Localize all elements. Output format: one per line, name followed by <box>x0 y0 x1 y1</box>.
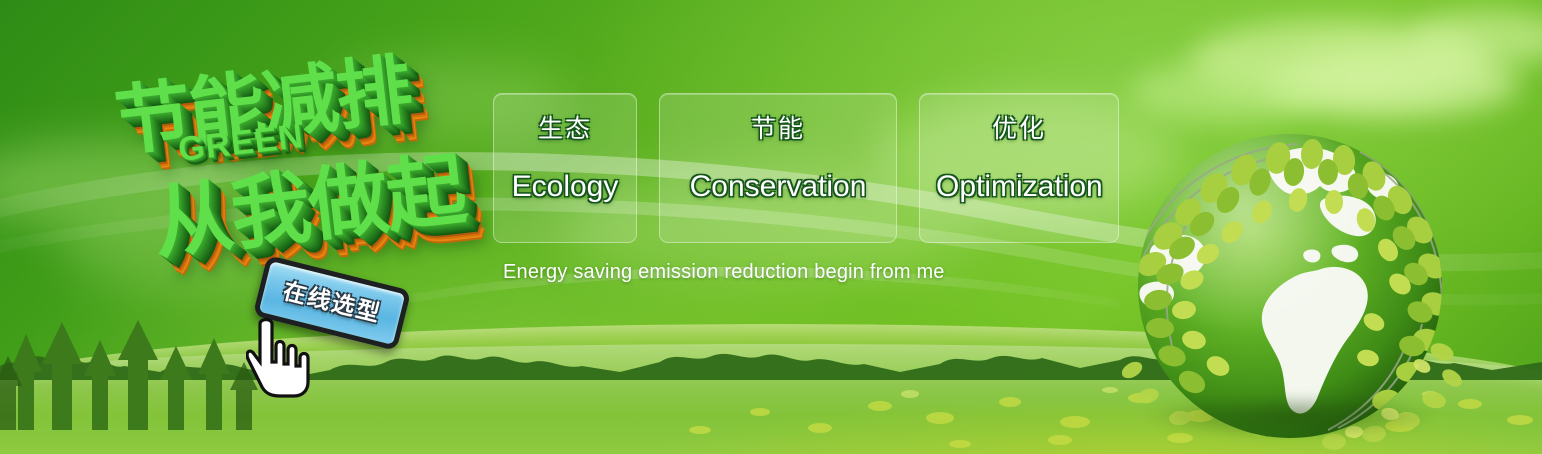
title-line-cn-1: 节能减排 <box>109 28 416 171</box>
cloud-shape <box>0 140 260 230</box>
feature-card-cn-label: 生态 <box>510 116 620 141</box>
feature-card-en-label: Ecology <box>510 172 620 202</box>
feature-card-en-label: Optimization <box>936 172 1102 202</box>
hero-3d-title: 节能减排 GREEN 从我做起 <box>100 38 500 273</box>
feature-card-cn-label: 优化 <box>936 116 1102 141</box>
title-accent-green: GREEN <box>176 117 306 170</box>
eco-hero-banner: 节能减排 GREEN 从我做起 在线选型 生态 Ecology 节能 Conse… <box>0 0 1542 454</box>
cloud-shape <box>1190 20 1490 100</box>
feature-card-en-label: Conservation <box>676 172 880 202</box>
feature-card-ecology[interactable]: 生态 Ecology <box>493 93 637 243</box>
grass-field <box>0 324 1542 454</box>
cloud-shape <box>1130 62 1320 122</box>
feature-card-cn-label: 节能 <box>676 116 880 141</box>
feature-card-optimization[interactable]: 优化 Optimization <box>919 93 1119 243</box>
title-line-cn-2: 从我做起 <box>146 125 469 276</box>
cloud-shape <box>1270 48 1520 118</box>
feature-card-conservation[interactable]: 节能 Conservation <box>659 93 897 243</box>
cloud-shape <box>1410 10 1542 66</box>
banner-tagline: Energy saving emission reduction begin f… <box>503 261 945 284</box>
feature-card-list: 生态 Ecology 节能 Conservation 优化 Optimizati… <box>493 93 1119 243</box>
